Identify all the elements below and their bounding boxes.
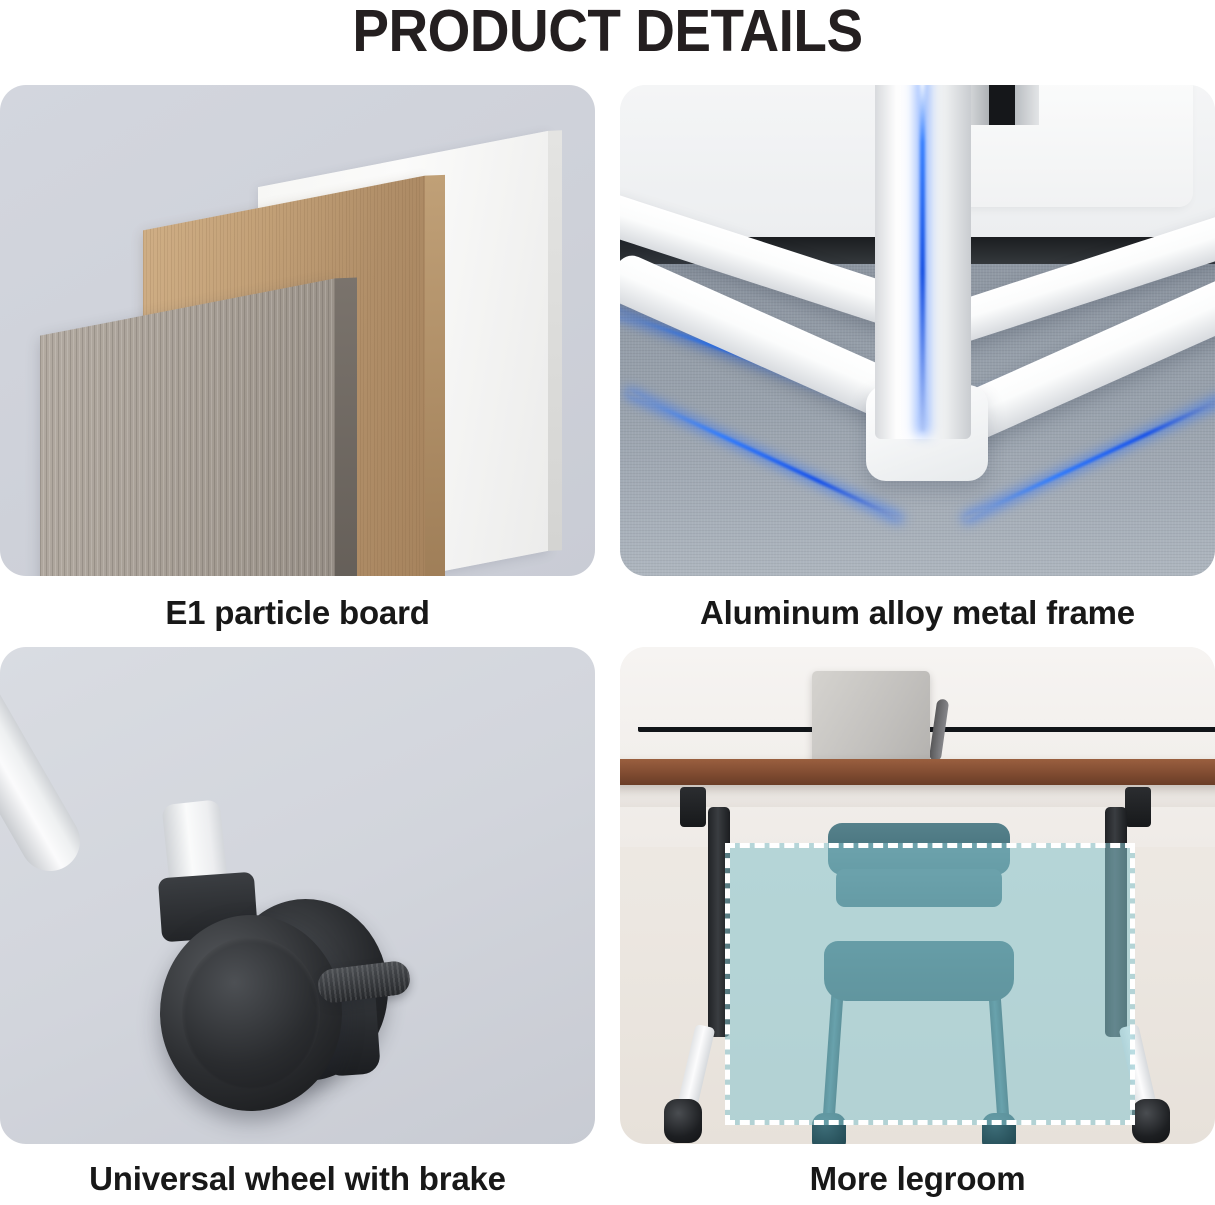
board-oak-edge [425,175,445,576]
frame-column-glow [920,85,925,431]
universal-wheel-photo [0,647,595,1144]
panel-more-legroom[interactable]: More legroom [620,647,1215,1198]
wall-panel-strip-light2 [1015,85,1039,125]
panel-aluminum-frame[interactable]: Aluminum alloy metal frame [620,85,1215,632]
particle-board-photo [0,85,595,576]
wall-panel-strip-dark [989,85,1015,125]
caption-aluminum-frame: Aluminum alloy metal frame [620,594,1215,632]
legroom-highlight-area [725,843,1135,1125]
panel-universal-wheel[interactable]: Universal wheel with brake [0,647,595,1198]
product-details-infographic: PRODUCT DETAILS E1 particle board [0,0,1215,1205]
leg-upper-tube [0,647,91,882]
panel-grid: E1 particle board [0,85,1215,1205]
page-title: PRODUCT DETAILS [43,0,1173,64]
laptop [812,671,930,763]
more-legroom-photo [620,647,1215,1144]
caption-particle-board: E1 particle board [0,594,595,632]
caster-wheel-front [160,915,342,1111]
desk-caster-right [1132,1099,1170,1143]
caption-more-legroom: More legroom [620,1160,1215,1198]
board-white-edge [548,130,562,551]
desk-caster-left [664,1099,702,1143]
desk-top [620,759,1215,785]
desk-clamp-left [680,787,706,827]
aluminum-frame-photo [620,85,1215,576]
caption-universal-wheel: Universal wheel with brake [0,1160,595,1198]
panel-particle-board[interactable]: E1 particle board [0,85,595,632]
board-grey-face [40,278,335,576]
board-grey-edge [335,278,357,576]
desk-clamp-right [1125,787,1151,827]
board-grey [40,278,335,576]
